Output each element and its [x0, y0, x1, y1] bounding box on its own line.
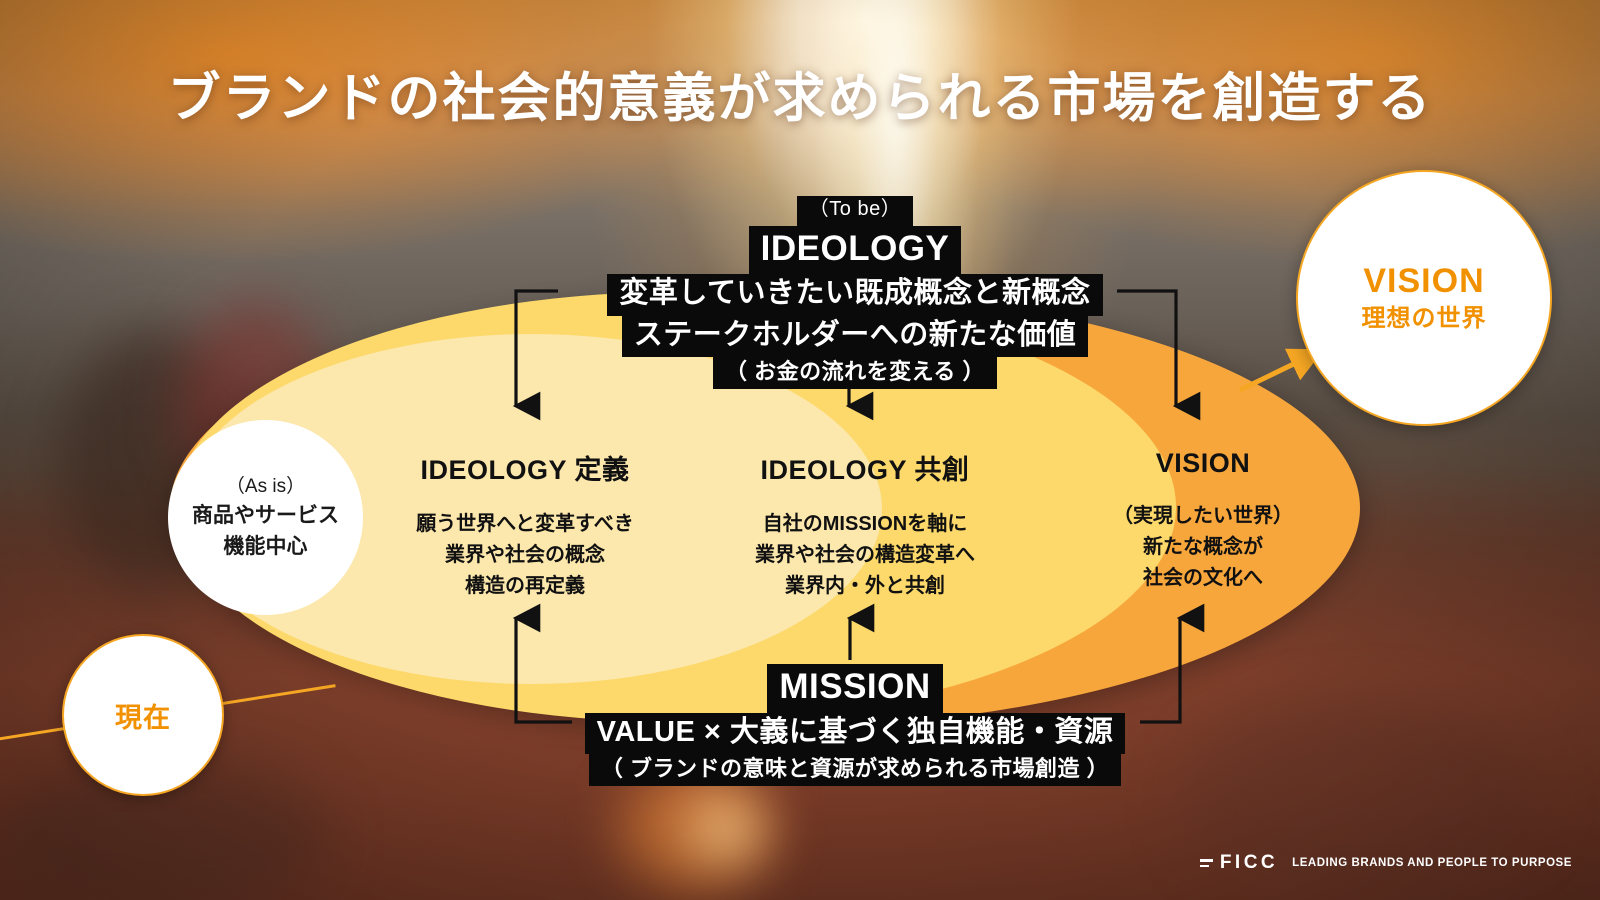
as-is-line-2: 機能中心 — [224, 532, 308, 562]
brand-logo: FICC LEADING BRANDS AND PEOPLE TO PURPOS… — [1200, 852, 1572, 874]
column-ideology-definition: IDEOLOGY 定義 願う世界へと変革すべき 業界や社会の概念 構造の再定義 — [380, 448, 670, 602]
callout-ideology-tag: （To be） — [797, 196, 913, 226]
callout-ideology-note: （ お金の流れを変える ） — [713, 357, 997, 389]
column-heading: IDEOLOGY 共創 — [720, 448, 1010, 487]
callout-ideology-line-2: ステークホルダーへの新たな価値 — [622, 316, 1089, 357]
column-line-1: （実現したい世界） — [1068, 501, 1338, 532]
diagram: （As is） 商品やサービス 機能中心 IDEOLOGY 定義 願う世界へと変… — [0, 0, 1600, 900]
logo-wordmark: FICC — [1220, 852, 1278, 874]
column-line-2: 業界や社会の構造変革へ — [720, 540, 1010, 571]
callout-mission-title: MISSION — [767, 664, 942, 713]
now-circle-label: 現在 — [115, 696, 171, 735]
column-line-1: 自社のMISSIONを軸に — [720, 509, 1010, 540]
as-is-line-1: 商品やサービス — [192, 501, 339, 531]
as-is-tag: （As is） — [226, 473, 305, 502]
column-heading: VISION — [1068, 448, 1338, 479]
callout-mission-note: （ ブランドの意味と資源が求められる市場創造 ） — [589, 754, 1121, 786]
slide-canvas: ブランドの社会的意義が求められる市場を創造する （As is） 商品やサービス … — [0, 0, 1600, 900]
column-line-2: 業界や社会の概念 — [380, 540, 670, 571]
logo-bars-icon — [1200, 859, 1213, 867]
as-is-block: （As is） 商品やサービス 機能中心 — [168, 420, 363, 615]
vision-circle-heading: VISION — [1363, 261, 1484, 301]
vision-circle-subheading: 理想の世界 — [1362, 303, 1487, 334]
callout-ideology-line-1: 変革していきたい既成概念と新概念 — [607, 274, 1102, 315]
column-line-2: 新たな概念が — [1068, 532, 1338, 563]
column-line-1: 願う世界へと変革すべき — [380, 509, 670, 540]
callout-mission-line-1: VALUE × 大義に基づく独自機能・資源 — [585, 713, 1126, 754]
callout-ideology: （To be） IDEOLOGY 変革していきたい既成概念と新概念 ステークホル… — [560, 196, 1150, 389]
callout-ideology-title: IDEOLOGY — [749, 226, 962, 275]
logo-tagline: LEADING BRANDS AND PEOPLE TO PURPOSE — [1292, 857, 1572, 869]
now-circle: 現在 — [62, 634, 224, 796]
vision-circle: VISION 理想の世界 — [1296, 170, 1552, 426]
column-vision: VISION （実現したい世界） 新たな概念が 社会の文化へ — [1068, 448, 1338, 594]
column-ideology-cocreation: IDEOLOGY 共創 自社のMISSIONを軸に 業界や社会の構造変革へ 業界… — [720, 448, 1010, 602]
column-line-3: 業界内・外と共創 — [720, 571, 1010, 602]
callout-mission: MISSION VALUE × 大義に基づく独自機能・資源 （ ブランドの意味と… — [555, 664, 1155, 786]
column-heading: IDEOLOGY 定義 — [380, 448, 670, 487]
ficc-logo-mark: FICC — [1200, 852, 1278, 874]
column-line-3: 社会の文化へ — [1068, 563, 1338, 594]
column-line-3: 構造の再定義 — [380, 571, 670, 602]
